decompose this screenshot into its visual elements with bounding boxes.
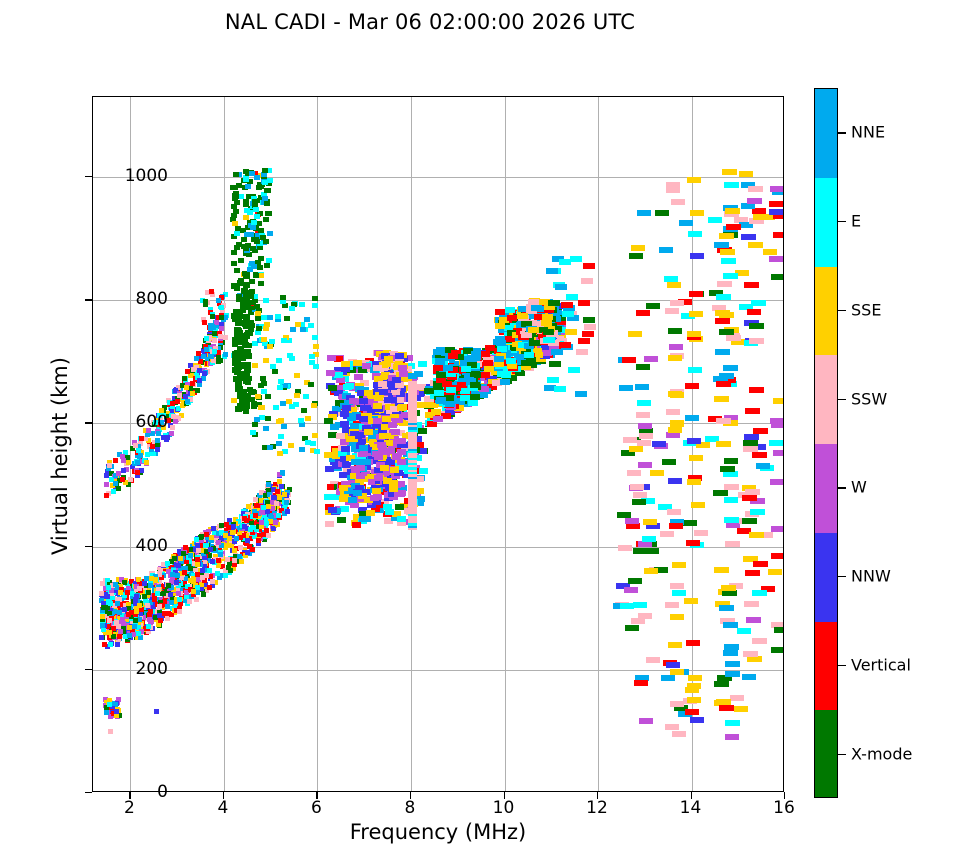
data-point [722,590,737,596]
data-point [770,186,784,192]
data-point [378,381,387,387]
data-point [225,557,230,562]
data-point [746,617,761,623]
data-point [294,393,300,398]
data-point [685,383,699,389]
chart-title: NAL CADI - Mar 06 02:00:00 2026 UTC [0,10,860,34]
data-point [724,182,739,188]
data-point [146,624,151,629]
data-point [618,545,632,551]
data-point [216,540,221,545]
data-point [310,441,316,446]
data-point [627,470,641,476]
data-point [166,583,171,588]
data-point [255,394,261,399]
data-point [173,419,178,424]
data-point [144,576,149,581]
data-point [121,468,126,473]
data-point [630,484,644,490]
data-point [247,210,253,215]
colorbar-label-vertical: Vertical [851,655,911,674]
data-point [655,210,669,216]
data-point [128,477,133,482]
colorbar-segment-e [815,178,837,267]
data-point [254,503,259,508]
data-point [748,186,763,192]
data-point [625,625,639,631]
data-point [517,313,528,319]
data-point [670,701,684,707]
data-point [687,438,701,444]
data-point [277,479,282,484]
data-point [547,377,559,383]
data-point [244,367,251,373]
data-point [282,449,288,454]
data-point [165,604,170,609]
data-point [723,365,738,371]
data-point [278,434,284,439]
data-point [660,531,674,537]
data-point [195,572,200,577]
data-point [433,365,443,371]
data-point [253,207,259,212]
data-point [752,590,767,596]
data-point [670,583,684,589]
data-point [461,366,471,372]
data-point [324,494,333,500]
data-point [578,300,590,306]
data-point [470,394,480,400]
data-point [670,614,684,620]
data-point [725,661,740,667]
data-point [240,405,247,411]
data-point [183,394,188,399]
data-point [687,479,701,485]
data-point [244,518,249,523]
data-point [353,360,362,366]
data-point [543,337,555,343]
data-point [161,591,166,596]
data-point [238,258,244,263]
data-point [178,556,183,561]
data-point [348,497,357,503]
data-point [687,331,701,337]
data-point [671,199,685,205]
data-point [424,402,434,408]
data-point [337,517,346,523]
data-point [749,532,764,538]
data-point [688,367,702,373]
colorbar-segment-nne [815,89,837,178]
data-point [726,335,741,341]
data-point [276,513,281,518]
data-point [280,470,285,475]
data-point [188,553,193,558]
data-point [374,454,383,460]
data-point [216,350,221,355]
data-point [135,470,140,475]
data-point [524,352,534,358]
colorbar-tick [838,132,846,133]
data-point [204,347,209,352]
data-point [264,322,270,327]
data-point [194,597,199,602]
data-point [506,358,516,364]
data-point [495,309,505,315]
data-point [559,259,571,265]
data-point [389,486,398,492]
data-point [328,507,337,513]
data-point [287,353,293,358]
data-point [670,421,684,427]
data-point [427,421,437,427]
data-point [408,381,417,388]
data-point [290,327,296,332]
data-point [339,485,348,491]
plot-area [92,96,784,792]
data-point [144,460,149,465]
data-point [690,253,704,259]
data-point [691,502,705,508]
data-point [753,561,768,567]
data-point [107,618,112,623]
data-point [723,471,738,477]
data-point [629,253,643,259]
data-point [720,249,735,255]
data-point [744,282,759,288]
data-point [219,326,224,331]
data-point [672,590,686,596]
data-point [244,304,251,310]
data-point [724,484,739,490]
data-point [104,493,109,498]
data-point [659,247,673,253]
data-point [694,530,708,536]
data-point [209,535,214,540]
data-point [234,536,239,541]
data-point [742,518,757,524]
data-point [127,625,132,630]
data-point [739,171,753,177]
data-point [254,214,260,219]
data-point [424,388,434,394]
data-point [726,224,741,230]
data-point [352,522,361,528]
data-point [177,597,182,602]
data-point [107,463,112,468]
data-point [546,268,558,274]
data-point [551,349,563,355]
data-point [751,300,766,306]
colorbar-tick [838,576,846,577]
data-point [668,478,682,484]
y-axis-tick-label: 1000 [48,166,168,186]
data-point [724,497,738,503]
data-point [619,385,633,391]
data-point [340,506,349,512]
data-point [443,365,453,371]
data-point [231,283,238,289]
colorbar-tick [838,754,846,755]
data-point [576,349,588,355]
data-point [325,466,334,472]
data-point [326,370,335,376]
data-point [210,579,215,584]
data-point [252,363,258,368]
data-point [742,495,757,501]
data-point [294,373,300,378]
data-point [684,598,698,604]
data-point [165,561,170,566]
data-point [191,367,196,372]
data-point [194,537,199,542]
data-point [308,382,314,387]
data-point [184,385,189,390]
data-point [216,558,221,563]
data-point [270,364,276,369]
data-point [150,444,155,449]
data-point [666,409,680,415]
data-point [725,671,740,677]
colorbar-segment-nnw [815,533,837,622]
data-point [687,177,701,183]
data-point [275,314,281,319]
data-point [304,317,310,322]
data-point [687,697,701,703]
data-point [118,629,123,634]
data-point [254,417,260,422]
data-point [127,633,132,638]
data-point [212,331,217,336]
x-axis-tick-label: 2 [99,798,159,818]
colorbar-label-sse: SSE [851,300,881,319]
data-point [204,336,209,341]
data-point [261,337,267,342]
data-point [770,479,784,485]
data-point [633,602,647,608]
data-point [177,393,182,398]
colorbar-segment-vertical [815,622,837,711]
data-point [637,440,651,446]
data-point [715,318,730,324]
data-point [233,209,239,214]
data-point [256,538,261,543]
data-point [219,523,224,528]
data-point [749,338,764,344]
data-point [261,381,267,386]
data-point [195,562,200,567]
data-point [646,657,660,663]
data-point [248,527,253,532]
data-point [419,468,428,474]
data-point [730,695,744,701]
data-point [460,395,470,401]
data-point [241,288,248,294]
data-point [308,323,314,328]
data-point [263,239,269,244]
data-point [244,274,250,279]
data-point [265,416,271,421]
data-point [261,315,267,320]
data-point [724,458,738,464]
data-point [197,378,202,383]
data-point [209,354,214,359]
data-point [662,459,676,465]
colorbar-segment-x-mode [815,710,837,798]
data-point [191,589,196,594]
data-point [559,342,571,348]
data-point [638,613,652,619]
data-point [769,440,783,446]
data-point [637,400,651,406]
data-point [528,327,539,333]
data-point [211,526,216,531]
data-point [278,379,284,384]
data-point [286,399,292,404]
data-point [562,311,574,317]
data-point [309,354,315,359]
data-point [395,353,404,359]
data-point [223,315,228,320]
data-point [231,524,236,529]
data-point [635,384,649,390]
data-point [717,281,732,287]
data-point [104,482,109,487]
data-point [243,215,249,220]
data-point [470,382,480,388]
data-point [212,338,217,343]
data-point [690,210,704,216]
data-point [254,304,260,309]
data-point [633,548,647,554]
data-point [176,563,181,568]
data-point [763,249,777,255]
data-point [642,536,656,542]
data-point [188,386,193,391]
data-point [106,585,111,590]
data-point [689,311,703,317]
colorbar [814,88,838,798]
data-point [624,587,638,593]
data-point [280,295,286,300]
data-point [341,361,350,367]
data-point [408,373,417,379]
data-point [686,540,700,546]
data-point [305,416,311,421]
data-point [670,300,684,306]
data-point [725,734,739,740]
data-point [115,642,120,647]
data-point [232,221,238,226]
data-point [277,495,282,500]
data-point [263,358,269,363]
x-axis-tick-label: 12 [567,798,627,818]
data-point [231,204,237,209]
data-point [687,683,701,689]
data-point [264,188,270,193]
data-point [745,408,760,414]
data-point [578,338,590,344]
data-point [264,263,270,268]
colorbar-label-w: W [851,478,867,497]
data-point [242,524,247,529]
data-point [99,591,104,596]
data-point [634,680,648,686]
data-point [133,618,138,623]
data-point [721,258,736,264]
data-point [345,383,354,389]
data-point [771,553,784,559]
data-point [714,567,729,573]
data-point [494,356,504,362]
data-point [637,210,651,216]
data-point [773,450,784,456]
data-point [725,208,740,214]
data-point [235,381,242,387]
data-point [242,297,249,303]
data-point [250,547,255,552]
data-point [182,570,187,575]
data-point [483,360,493,366]
data-point [714,242,729,248]
data-point [742,674,756,680]
data-point [747,656,762,662]
data-point [314,449,320,454]
data-point [235,319,242,325]
x-axis-tick-label: 10 [474,798,534,818]
data-point [284,316,290,321]
data-point [313,344,319,349]
data-point [397,438,406,444]
data-point [359,516,368,522]
data-point [378,445,387,451]
data-point [272,369,278,374]
data-point [723,622,738,628]
data-point [313,364,319,369]
data-point [379,433,388,439]
data-point [356,473,365,479]
data-point [285,509,290,514]
colorbar-segment-ssw [815,355,837,444]
data-point [254,175,260,180]
data-point [201,592,206,597]
data-point [434,390,444,396]
data-point [724,644,739,650]
data-point [139,468,144,473]
data-point [745,570,760,576]
data-point [245,538,250,543]
data-point [207,585,212,590]
data-point [769,201,783,207]
data-point [243,199,249,204]
data-point [650,470,664,476]
data-point [113,481,118,486]
data-point [266,533,271,538]
data-point [723,650,738,656]
data-point [324,418,333,424]
data-point [312,335,318,340]
data-point [125,590,130,595]
data-point [669,523,683,529]
x-axis-label: Frequency (MHz) [92,820,784,844]
data-point [636,310,650,316]
data-point [101,605,106,610]
data-point [686,640,700,646]
data-point [107,630,112,635]
data-point [253,513,258,518]
data-point [713,490,728,496]
data-point [135,460,140,465]
